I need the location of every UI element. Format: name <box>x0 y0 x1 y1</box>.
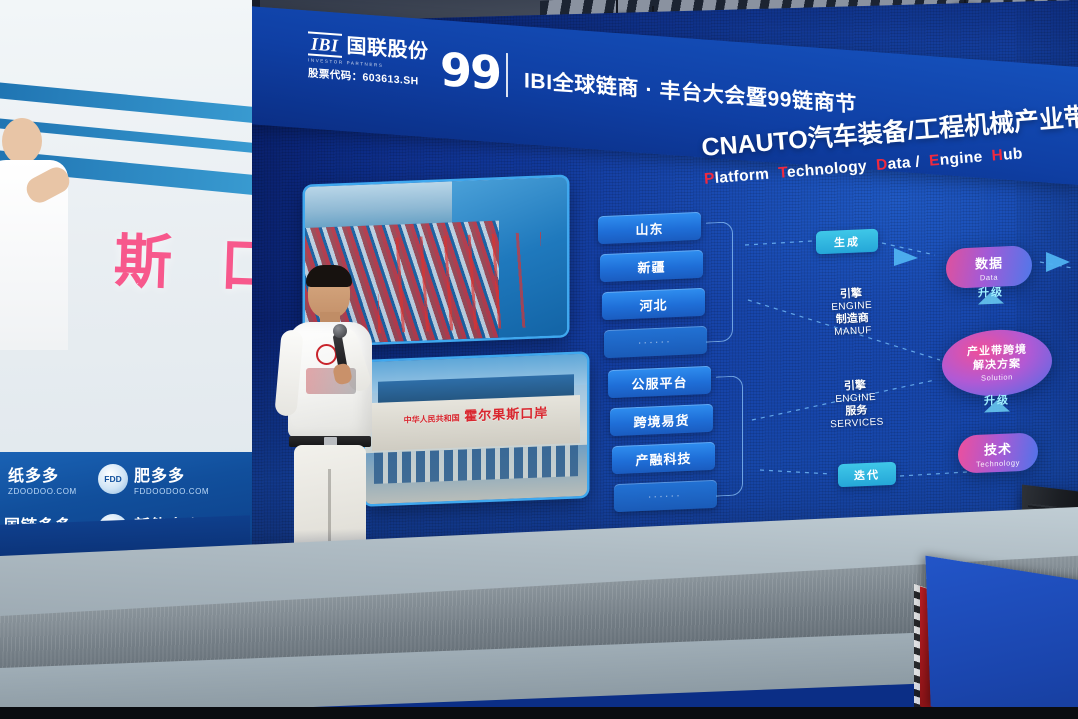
node-data-en: Data <box>980 272 998 282</box>
chip-service-2: 产融科技 <box>612 442 715 474</box>
node-tech-cn: 技术 <box>984 438 1012 458</box>
node-data-cn: 数据 <box>975 252 1003 272</box>
port-cranes <box>378 232 540 333</box>
engine-label-services: 引擎 ENGINE 服务 SERVICES <box>815 378 898 432</box>
chip-region-0: 山东 <box>598 212 701 244</box>
khorgos-port-photo: 中华人民共和国 霍尔果斯口岸 <box>365 354 587 505</box>
microphone-head-icon <box>333 324 347 338</box>
sponsor-1-cn: 肥多多 <box>134 462 209 486</box>
side-person-head <box>2 118 42 164</box>
company-name: 国联股份 <box>347 35 429 63</box>
speaker-hair <box>306 265 352 287</box>
service-chip-brace <box>716 375 743 496</box>
upgrade-label-1: 升级 <box>965 283 1017 301</box>
sponsor-1-en: FDDOODOO.COM <box>134 487 209 496</box>
node-data: 数据 Data <box>946 245 1032 289</box>
chip-service-0: 公服平台 <box>608 366 711 398</box>
side-screen-person <box>0 118 70 348</box>
node-solution-en: Solution <box>981 372 1013 382</box>
sponsor-0-cn: 纸多多 <box>8 462 77 486</box>
khorgos-sign-country: 中华人民共和国 <box>404 413 460 424</box>
label-iterate: 迭代 <box>838 462 896 487</box>
ibi-wordmark: IBI <box>308 31 342 57</box>
sponsor-logo-0: 纸多多 ZDOODOO.COM <box>8 462 77 496</box>
engine-label-manufacturer: 引擎 ENGINE 制造商 MANUF <box>811 286 894 340</box>
header-divider <box>506 53 508 97</box>
event-title: IBI全球链商 · 丰台大会暨99链商节 <box>524 64 857 118</box>
chip-region-2: 河北 <box>602 288 705 320</box>
company-logo: IBI国联股份 INVESTOR PARTNERS 股票代码：603613.SH <box>308 26 429 89</box>
khorgos-sign-name: 霍尔果斯口岸 <box>464 405 548 423</box>
upgrade-label-2: 升级 <box>971 391 1023 409</box>
anniversary-99: 99 <box>440 42 500 100</box>
node-solution-cn-line2: 解决方案 <box>973 357 1021 373</box>
side-led-screen: 果 斯 口 纸多多 ZDOODOO.COM FDD 肥多多 FDDOODOO.C… <box>0 0 252 560</box>
node-technology: 技术 Technology <box>958 432 1038 473</box>
blue-stage-ramp <box>925 556 1078 719</box>
conference-stage-photo: IBI国联股份 INVESTOR PARTNERS 股票代码：603613.SH… <box>0 0 1078 719</box>
sponsor-logo-1: 肥多多 FDDOODOO.COM <box>134 462 209 496</box>
chip-region-3: ······ <box>604 326 707 358</box>
chip-service-3: ······ <box>614 480 717 512</box>
chip-region-1: 新疆 <box>600 250 703 282</box>
node-tech-en: Technology <box>976 458 1020 469</box>
label-generate: 生成 <box>816 229 878 255</box>
sponsor-1-badge-icon: FDD <box>98 464 128 494</box>
sponsor-0-en: ZDOODOO.COM <box>8 487 77 496</box>
chip-service-1: 跨境易货 <box>610 404 713 436</box>
region-chip-brace <box>706 221 733 342</box>
bottom-black-strip <box>0 707 1078 719</box>
